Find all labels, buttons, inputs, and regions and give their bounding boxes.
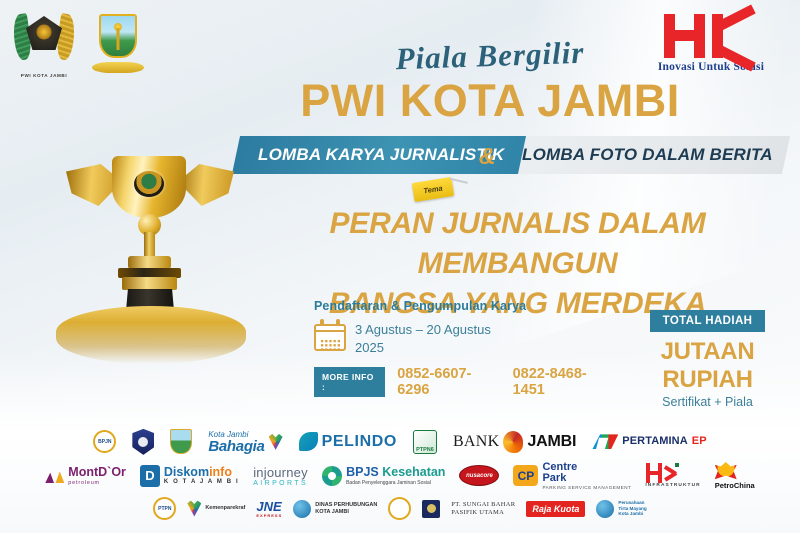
diskominfo-label-part2: info [209, 465, 232, 479]
montdor-logo-icon [45, 469, 64, 483]
kota-jambi-emblem [86, 8, 150, 78]
kota-jambi-shield-icon [99, 14, 137, 58]
sponsor-bank-jambi: BANK JAMBI [453, 431, 576, 453]
theme-line-1: PERAN JURNALIS DALAM MEMBANGUN [245, 204, 790, 284]
sponsor-lantas-jambi [422, 500, 440, 518]
sponsor-sungai-bahar: PT. SUNGAI BAHAR PASIFIK UTAMA [451, 501, 515, 517]
pertamina-label: PERTAMINA [622, 436, 687, 448]
ptpn-label: PTPN [158, 506, 171, 512]
pertamina-ep-label: EP [692, 436, 707, 448]
trophy-illustration [60, 138, 240, 323]
bpjn-logo-icon: BPJN [93, 430, 116, 453]
script-subtitle: Piala Bergilir [339, 33, 640, 79]
sponsor-bpjs-kesehatan: BPJS Kesehatan Badan Penyelenggara Jamin… [322, 466, 445, 486]
sponsor-nusacore: nusacore [459, 465, 499, 486]
sponsor-dishub-jambi: DINAS PERHUBUNGAN KOTA JAMBI [293, 500, 377, 518]
bank-jambi-word-jambi: JAMBI [527, 434, 576, 451]
bank-jambi-word-bank: BANK [453, 433, 500, 451]
kota-jambi-ribbon-icon [92, 62, 144, 73]
sponsor-montdor: MontD`Or petroleum [45, 466, 126, 485]
sponsor-diskominfo: D Diskominfo K O T A J A M B I [140, 465, 239, 487]
jne-sublabel: EXPRESS [256, 514, 282, 518]
sponsor-pemkot-jambi [170, 429, 192, 454]
registration-date-row: 3 Agustus – 20 Agustus 2025 [314, 319, 614, 356]
competition-primary-label: LOMBA KARYA JURNALISTIK [258, 145, 504, 165]
sponsor-kota-jambi-badge [388, 497, 411, 520]
pertamina-arrow-icon [592, 434, 618, 449]
bpjs-label-part2: Kesehatan [382, 465, 445, 479]
sponsor-row-1: BPJN Kota Jambi Bahagia PELINDO [0, 429, 800, 455]
ptpn6-logo-icon: PTPN6 [413, 430, 437, 454]
sponsor-pelindo: PELINDO [299, 432, 397, 451]
montdor-label: MontD`Or [68, 466, 126, 479]
sponsor-ptpn-row3: PTPN [153, 497, 176, 520]
sponsor-kemenparekraf: Kemenparekraf [187, 501, 245, 517]
nusacore-label: nusacore [466, 473, 493, 479]
sponsor-raja-kuota: Raja Kuota [526, 501, 585, 517]
hk-monogram-icon [646, 10, 776, 60]
hk-logo-tagline: Inovasi Untuk Solusi [646, 61, 776, 73]
sponsor-hki-infrastruktur: INFRASTRUKTUR [645, 463, 700, 488]
sponsor-row-3: PTPN Kemenparekraf JNE EXPRESS DINAS PER… [0, 497, 800, 520]
diskominfo-label-part1: Diskom [164, 465, 209, 479]
prize-badge: TOTAL HADIAH [650, 310, 766, 332]
trophy-cup-icon [112, 156, 186, 218]
contact-phone-list: 0852-6607-6296 0822-8468-1451 [397, 366, 614, 398]
competition-banner-row: LOMBA FOTO DALAM BERITA LOMBA KARYA JURN… [236, 136, 786, 176]
satlantas-shield-icon [132, 429, 154, 455]
sponsor-strip: BPJN Kota Jambi Bahagia PELINDO [0, 429, 800, 527]
registration-date-range: 3 Agustus – 20 Agustus [355, 321, 491, 339]
lantas-jambi-badge-icon [422, 500, 440, 518]
montdor-sublabel: petroleum [68, 480, 126, 486]
contact-phone-1[interactable]: 0852-6607-6296 [397, 366, 498, 398]
injourney-label: injourney [253, 465, 308, 480]
hki-logo-icon [645, 463, 679, 483]
bpjs-label: BPJS Kesehatan [346, 466, 445, 479]
poster-canvas: PWI KOTA JAMBI Inovasi Untuk Solusi Pial… [0, 0, 800, 533]
trophy-handle-right-icon [178, 164, 234, 206]
kota-jambi-bahagia-line2: Bahagia [208, 439, 264, 455]
tirta-mayang-line1: Perusahaan [618, 500, 646, 506]
sungai-bahar-label-line2: PASIFIK UTAMA [451, 509, 515, 517]
petrochina-logo-icon [715, 462, 737, 482]
bpjs-sublabel: Badan Penyelenggara Jaminan Sosial [346, 480, 445, 486]
sponsor-row-2: MontD`Or petroleum D Diskominfo K O T A … [0, 462, 800, 490]
bpjs-logo-icon [322, 466, 342, 486]
header-emblems: PWI KOTA JAMBI [12, 8, 150, 78]
registration-block: Pendaftaran & Pengumpulan Karya 3 Agustu… [314, 299, 614, 398]
jne-label: JNE [256, 499, 282, 514]
tirta-mayang-globe-icon [596, 500, 614, 518]
petrochina-label: PetroChina [715, 482, 755, 490]
page-title: PWI KOTA JAMBI [230, 75, 750, 127]
more-info-row: MORE INFO : 0852-6607-6296 0822-8468-145… [314, 366, 614, 398]
prize-extras: Sertifikat + Piala [620, 395, 795, 409]
sponsor-kota-jambi-bahagia: Kota Jambi Bahagia [208, 430, 282, 455]
sponsor-pertamina-ep: PERTAMINA EP [592, 434, 706, 449]
kemenparekraf-fan-icon [187, 501, 201, 517]
hutama-karya-logo: Inovasi Untuk Solusi [646, 10, 776, 73]
pemkot-jambi-shield-icon [170, 429, 192, 454]
pelindo-logo-icon [299, 432, 318, 451]
bpjs-label-part1: BPJS [346, 465, 379, 479]
dishub-globe-icon [293, 500, 311, 518]
contact-phone-2[interactable]: 0822-8468-1451 [513, 366, 614, 398]
sponsor-injourney: injourney AIRPORTS [253, 465, 308, 487]
sungai-bahar-label-line1: PT. SUNGAI BAHAR [451, 501, 515, 509]
bahagia-fan-icon [269, 434, 283, 450]
pwi-emblem-caption: PWI KOTA JAMBI [12, 73, 76, 78]
trophy-disc-lower [122, 277, 177, 290]
trophy-stem [144, 232, 155, 258]
kota-jambi-badge-icon [388, 497, 411, 520]
diskominfo-logo-icon: D [140, 465, 160, 487]
prize-block: TOTAL HADIAH JUTAAN RUPIAH Sertifikat + … [620, 310, 795, 409]
registration-title: Pendaftaran & Pengumpulan Karya [314, 299, 614, 313]
theme-tag-badge: Tema [412, 177, 454, 202]
competition-secondary-banner: LOMBA FOTO DALAM BERITA [500, 136, 790, 174]
ptpn6-label: PTPN6 [416, 447, 434, 453]
sponsor-ptpn6: PTPN6 [413, 430, 437, 454]
bank-jambi-mark-icon [503, 431, 523, 453]
centre-park-label-line2: Park [542, 473, 631, 485]
nusacore-logo-icon: nusacore [459, 465, 499, 486]
diskominfo-label: Diskominfo [164, 466, 239, 479]
sponsor-centre-park: CP Centre Park PARKING SERVICE MANAGEMEN… [513, 462, 631, 490]
dishub-label-line1: DINAS PERHUBUNGAN [315, 502, 377, 508]
sponsor-tirta-mayang: Perusahaan Tirta Mayang Kota Jambi [596, 500, 646, 518]
registration-dates: 3 Agustus – 20 Agustus 2025 [355, 319, 491, 356]
centre-park-sublabel: PARKING SERVICE MANAGEMENT [542, 485, 631, 490]
calendar-icon [314, 319, 346, 351]
bpjn-label: BPJN [98, 439, 111, 445]
sponsor-petrochina: PetroChina [715, 462, 755, 490]
dishub-label-line2: KOTA JAMBI [315, 509, 377, 515]
tirta-mayang-line3: Kota Jambi [618, 511, 646, 517]
raja-kuota-label: Raja Kuota [526, 501, 585, 517]
competition-conjunction: & [479, 143, 496, 170]
pelindo-label: PELINDO [322, 434, 397, 451]
pwi-kota-jambi-emblem: PWI KOTA JAMBI [12, 8, 76, 78]
registration-date-year: 2025 [355, 339, 491, 357]
diskominfo-sublabel: K O T A J A M B I [164, 479, 239, 485]
pwi-shield-icon [26, 16, 62, 50]
competition-secondary-label: LOMBA FOTO DALAM BERITA [522, 145, 773, 165]
trophy-pedestal [56, 306, 246, 364]
prize-amount: JUTAAN RUPIAH [620, 338, 795, 394]
injourney-sublabel: AIRPORTS [253, 480, 308, 487]
centre-park-logo-icon: CP [513, 465, 538, 486]
hki-sublabel: INFRASTRUKTUR [645, 483, 700, 488]
sponsor-jne: JNE EXPRESS [256, 499, 282, 518]
kemenparekraf-label: Kemenparekraf [205, 505, 245, 511]
sponsor-satlantas [132, 429, 154, 455]
ptpn-logo-icon: PTPN [153, 497, 176, 520]
sponsor-bpjn: BPJN [93, 430, 116, 453]
more-info-badge: MORE INFO : [314, 367, 385, 397]
